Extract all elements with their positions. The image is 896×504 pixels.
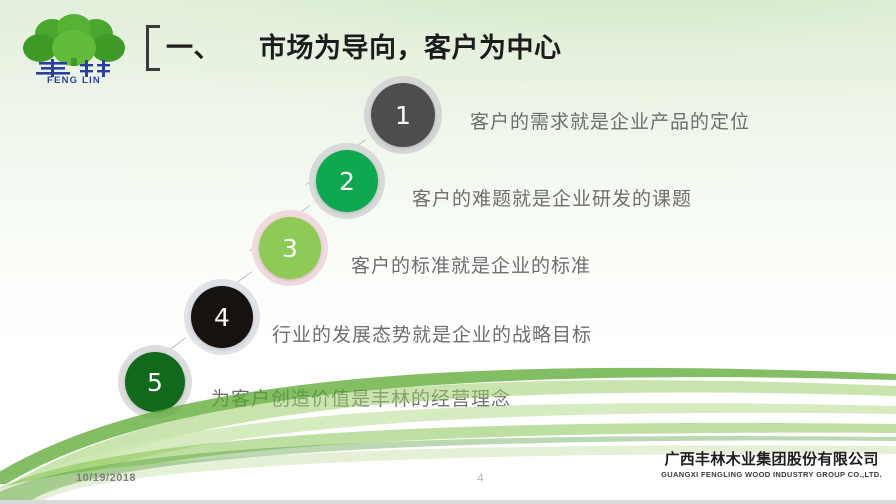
step-badge-2[interactable]: 2 [316,150,378,212]
slide-page-number: 4 [477,471,484,485]
step-label-2: 客户的难题就是企业研发的课题 [412,190,692,209]
bottom-divider [0,500,896,504]
step-label-5: 为客户创造价值是丰林的经营理念 [211,390,511,409]
company-signature: 广西丰林木业集团股份有限公司 GUANGXI FENGLING WOOD IND… [661,452,882,479]
step-number-5: 5 [147,368,163,397]
company-name-cn: 广西丰林木业集团股份有限公司 [661,452,882,468]
step-number-2: 2 [339,167,355,196]
step-label-1: 客户的需求就是企业产品的定位 [470,113,750,132]
step-badge-5[interactable]: 5 [125,352,185,412]
step-number-4: 4 [214,303,230,332]
step-number-3: 3 [282,234,298,263]
presentation-slide: FENG LIN 一、 市场为导向，客户为中心 1 客户的需求就是企业产品的定位… [0,0,896,504]
step-label-3: 客户的标准就是企业的标准 [351,257,591,276]
step-label-4: 行业的发展态势就是企业的战略目标 [272,326,592,345]
slide-date: 10/19/2018 [76,472,136,484]
step-number-1: 1 [395,101,411,130]
company-name-en: GUANGXI FENGLING WOOD INDUSTRY GROUP CO.… [661,471,882,479]
step-badge-4[interactable]: 4 [191,286,253,348]
step-badge-3[interactable]: 3 [259,217,321,279]
step-badge-1[interactable]: 1 [371,83,435,147]
step-diagram: 1 客户的需求就是企业产品的定位 2 客户的难题就是企业研发的课题 3 客户的标… [0,0,896,504]
